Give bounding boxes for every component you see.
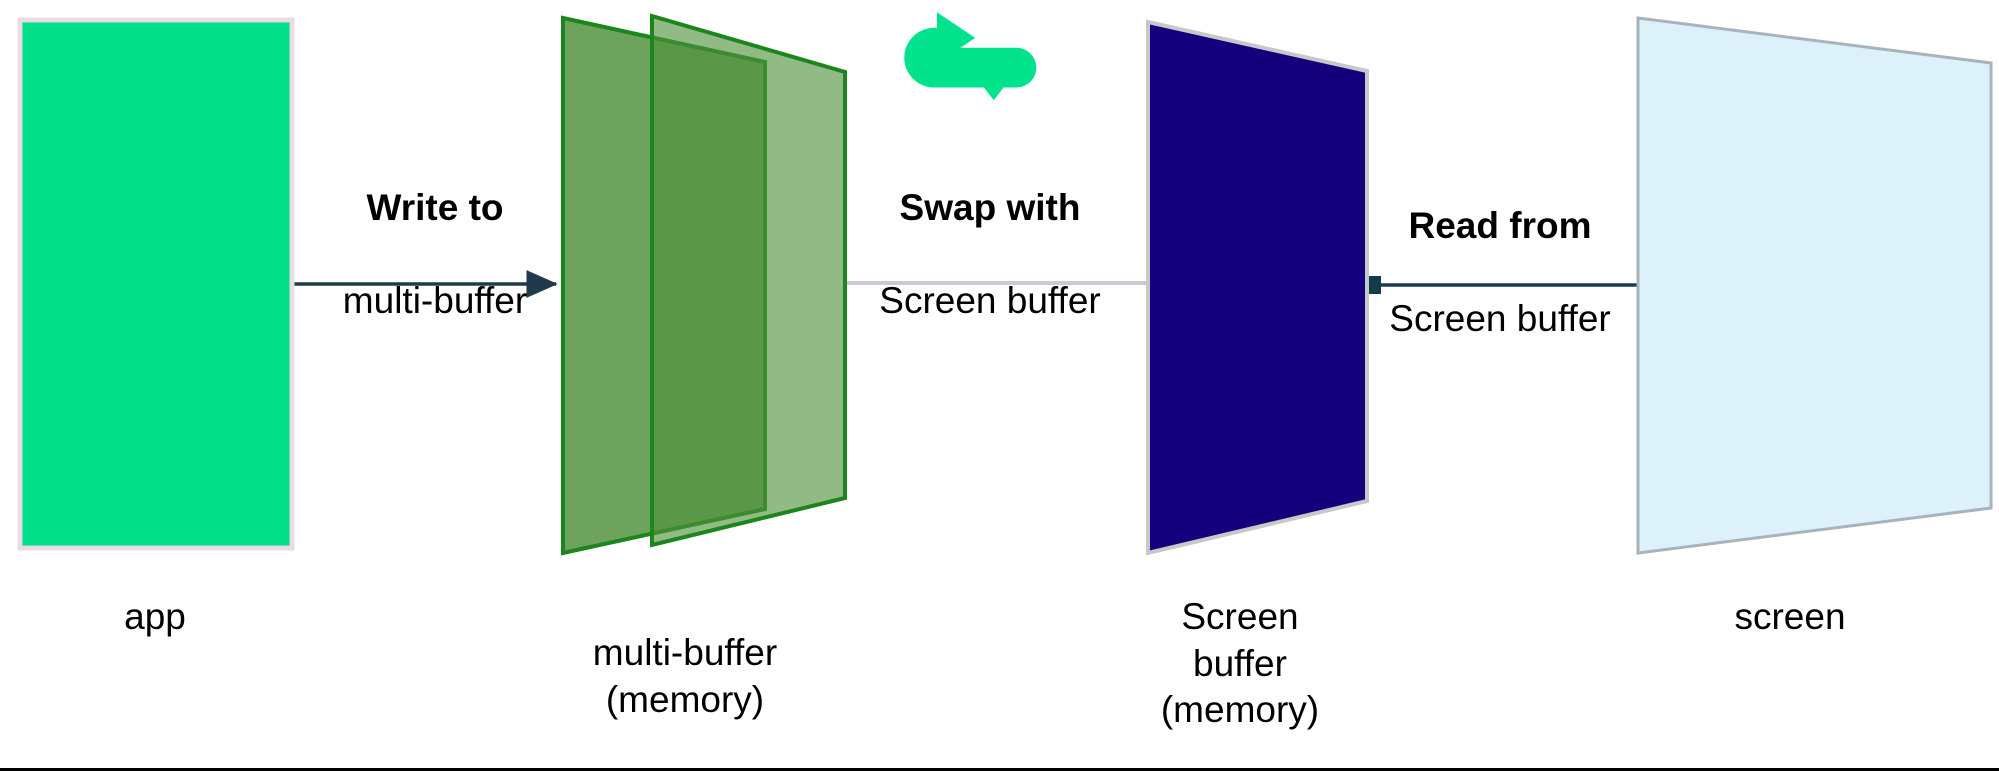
- node-screen-buffer[interactable]: [1148, 22, 1367, 553]
- edge-label-write-to-multi-buffer: Write to multi-buffer: [300, 138, 570, 371]
- multi-buffer-sheet-front[interactable]: [652, 16, 845, 545]
- node-app[interactable]: [20, 20, 292, 548]
- edge-label-swap-bold: Swap with: [860, 185, 1120, 232]
- node-label-multi-buffer: multi-buffer (memory): [560, 630, 810, 723]
- app-rectangle[interactable]: [20, 20, 292, 548]
- node-label-app: app: [20, 594, 290, 641]
- node-label-screen: screen: [1655, 594, 1925, 641]
- diagram-canvas: Write to multi-buffer Swap with Screen b…: [0, 0, 1999, 771]
- node-screen[interactable]: [1638, 18, 1991, 553]
- edge-label-read-plain: Screen buffer: [1370, 296, 1630, 343]
- diagram-shapes: [0, 0, 1999, 771]
- edge-label-write-plain: multi-buffer: [300, 278, 570, 325]
- node-multi-buffer[interactable]: [563, 16, 845, 553]
- screen-buffer-parallelogram[interactable]: [1148, 22, 1367, 553]
- edge-label-swap-plain: Screen buffer: [860, 278, 1120, 325]
- edge-label-read-from-screen-buffer: Read from Screen buffer: [1370, 156, 1630, 389]
- node-label-screen-buffer: Screen buffer (memory): [1135, 594, 1345, 734]
- edge-label-swap-with-screen-buffer: Swap with Screen buffer: [860, 138, 1120, 371]
- edge-label-read-bold: Read from: [1370, 203, 1630, 250]
- screen-parallelogram[interactable]: [1638, 18, 1991, 553]
- swap-loop-icon: [904, 12, 1036, 100]
- edge-label-write-bold: Write to: [300, 185, 570, 232]
